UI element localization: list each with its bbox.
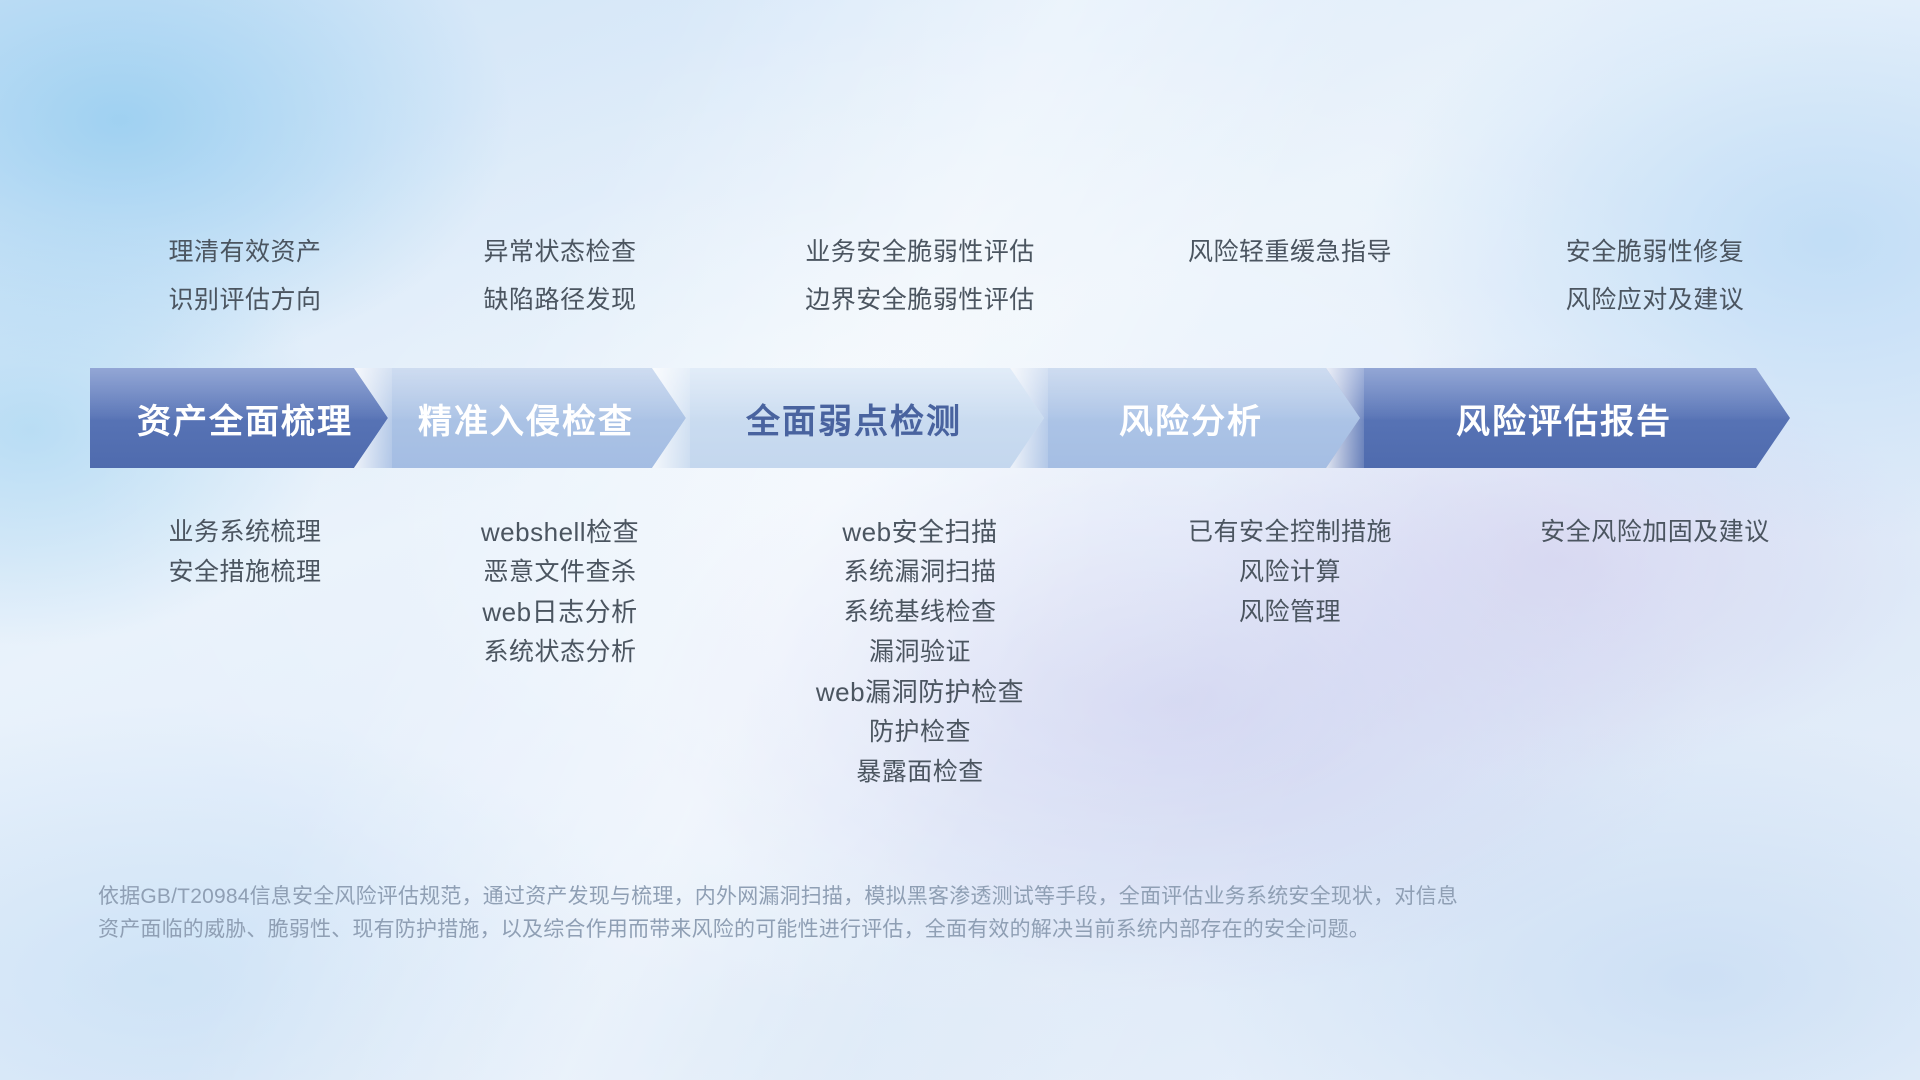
stage-label: 资产全面梳理 (125, 394, 353, 443)
note-text: 系统漏洞扫描 (725, 552, 1115, 592)
stage-label: 全面弱点检测 (734, 394, 962, 443)
note-text: 识别评估方向 (95, 276, 395, 324)
top-notes-risk-report: 安全脆弱性修复 风险应对及建议 (1465, 228, 1845, 324)
footer-description: 依据GB/T20984信息安全风险评估规范，通过资产发现与梳理，内外网漏洞扫描，… (98, 880, 1618, 946)
process-arrow-band: 资产全面梳理 精准入侵检查 全面弱点检测 风险分析 风险评估报告 (90, 368, 1858, 468)
note-text: 风险轻重缓急指导 (1115, 228, 1465, 276)
footer-line: 资产面临的威胁、脆弱性、现有防护措施，以及综合作用而带来风险的可能性进行评估，全… (98, 913, 1618, 946)
note-text: 已有安全控制措施 (1115, 512, 1465, 552)
note-text: 安全风险加固及建议 (1465, 512, 1845, 552)
note-text: 防护检查 (725, 712, 1115, 752)
top-notes-weakness-detection: 业务安全脆弱性评估 边界安全脆弱性评估 (725, 228, 1115, 324)
slide-content: 理清有效资产 识别评估方向 异常状态检查 缺陷路径发现 业务安全脆弱性评估 边界… (0, 0, 1920, 1080)
note-text: 恶意文件查杀 (395, 552, 725, 592)
slide-canvas: 理清有效资产 识别评估方向 异常状态检查 缺陷路径发现 业务安全脆弱性评估 边界… (0, 0, 1920, 1080)
note-text: webshell检查 (395, 512, 725, 552)
stage-arrow-asset-inventory[interactable]: 资产全面梳理 (90, 368, 388, 468)
note-text: 安全措施梳理 (95, 552, 395, 592)
note-text: web安全扫描 (725, 512, 1115, 552)
note-text: 暴露面检查 (725, 752, 1115, 792)
top-notes-asset-inventory: 理清有效资产 识别评估方向 (95, 228, 395, 324)
note-text: 缺陷路径发现 (395, 276, 725, 324)
stage-label: 风险分析 (1107, 394, 1263, 443)
note-text: 理清有效资产 (95, 228, 395, 276)
stage-arrow-weakness-detection[interactable]: 全面弱点检测 (652, 368, 1044, 468)
note-text: 业务系统梳理 (95, 512, 395, 552)
bottom-notes-weakness-detection: web安全扫描 系统漏洞扫描 系统基线检查 漏洞验证 web漏洞防护检查 防护检… (725, 512, 1115, 792)
top-notes-intrusion-check: 异常状态检查 缺陷路径发现 (395, 228, 725, 324)
note-text: 业务安全脆弱性评估 (725, 228, 1115, 276)
bottom-notes-row: 业务系统梳理 安全措施梳理 webshell检查 恶意文件查杀 web日志分析 … (95, 512, 1845, 792)
stage-arrow-intrusion-check[interactable]: 精准入侵检查 (354, 368, 686, 468)
note-text: 系统状态分析 (395, 632, 725, 672)
note-text: 异常状态检查 (395, 228, 725, 276)
stage-label: 精准入侵检查 (406, 394, 634, 443)
note-text: 风险应对及建议 (1465, 276, 1845, 324)
top-notes-risk-analysis: 风险轻重缓急指导 (1115, 228, 1465, 324)
stage-arrow-risk-analysis[interactable]: 风险分析 (1010, 368, 1360, 468)
note-text: 系统基线检查 (725, 592, 1115, 632)
note-text: 风险管理 (1115, 592, 1465, 632)
top-notes-row: 理清有效资产 识别评估方向 异常状态检查 缺陷路径发现 业务安全脆弱性评估 边界… (95, 228, 1845, 324)
footer-line: 依据GB/T20984信息安全风险评估规范，通过资产发现与梳理，内外网漏洞扫描，… (98, 880, 1618, 913)
note-text: 安全脆弱性修复 (1465, 228, 1845, 276)
note-text: 风险计算 (1115, 552, 1465, 592)
note-text: web日志分析 (395, 592, 725, 632)
bottom-notes-risk-report: 安全风险加固及建议 (1465, 512, 1845, 552)
note-text: 边界安全脆弱性评估 (725, 276, 1115, 324)
note-text: 漏洞验证 (725, 632, 1115, 672)
stage-arrow-risk-report[interactable]: 风险评估报告 (1326, 368, 1790, 468)
bottom-notes-risk-analysis: 已有安全控制措施 风险计算 风险管理 (1115, 512, 1465, 632)
bottom-notes-asset-inventory: 业务系统梳理 安全措施梳理 (95, 512, 395, 592)
note-text: web漏洞防护检查 (725, 672, 1115, 712)
stage-label: 风险评估报告 (1444, 394, 1672, 443)
bottom-notes-intrusion-check: webshell检查 恶意文件查杀 web日志分析 系统状态分析 (395, 512, 725, 672)
